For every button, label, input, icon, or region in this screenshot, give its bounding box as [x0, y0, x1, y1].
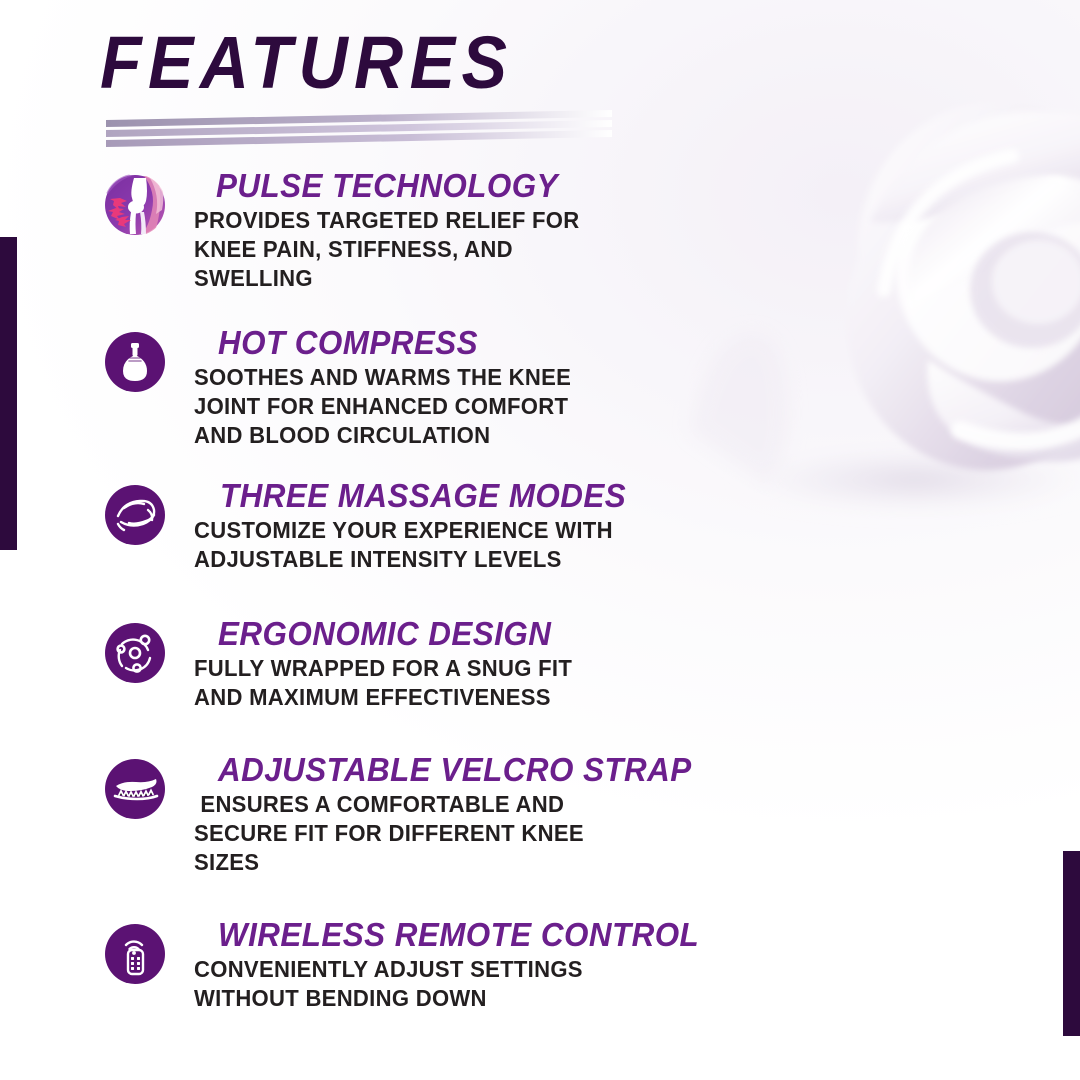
feature-item: HOT COMPRESS SOOTHES AND WARMS THE KNEE …	[104, 325, 724, 450]
feature-title: PULSE TECHNOLOGY	[216, 168, 699, 204]
title-underline-rules	[100, 108, 620, 154]
knee-joint-icon	[104, 174, 166, 236]
massage-hand-icon	[104, 484, 166, 546]
feature-item: WIRELESS REMOTE CONTROL CONVENIENTLY ADJ…	[104, 917, 724, 1013]
feature-title: HOT COMPRESS	[218, 325, 699, 361]
feature-description: ENSURES A COMFORTABLE AND SECURE FIT FOR…	[194, 790, 609, 877]
feature-description: FULLY WRAPPED FOR A SNUG FIT AND MAXIMUM…	[194, 654, 609, 712]
velcro-strap-icon	[104, 758, 166, 820]
feature-title: WIRELESS REMOTE CONTROL	[218, 917, 699, 953]
feature-item: ERGONOMIC DESIGN FULLY WRAPPED FOR A SNU…	[104, 616, 724, 712]
feature-description: CONVENIENTLY ADJUST SETTINGS WITHOUT BEN…	[194, 955, 597, 1013]
left-accent-bar	[0, 237, 17, 550]
feature-item: THREE MASSAGE MODES CUSTOMIZE YOUR EXPER…	[104, 478, 724, 574]
feature-description: CUSTOMIZE YOUR EXPERIENCE WITH ADJUSTABL…	[194, 516, 616, 574]
header: FEATURES	[100, 24, 660, 102]
ergonomic-nodes-icon	[104, 622, 166, 684]
remote-control-icon	[104, 923, 166, 985]
feature-title: ERGONOMIC DESIGN	[218, 616, 699, 652]
feature-title: THREE MASSAGE MODES	[220, 478, 699, 514]
page-title: FEATURES	[100, 24, 615, 102]
feature-description: SOOTHES AND WARMS THE KNEE JOINT FOR ENH…	[194, 363, 597, 450]
features-list: PULSE TECHNOLOGY PROVIDES TARGETED RELIE…	[104, 168, 724, 1021]
right-accent-bar	[1063, 851, 1080, 1036]
feature-description: PROVIDES TARGETED RELIEF FOR KNEE PAIN, …	[194, 206, 597, 293]
feature-title: ADJUSTABLE VELCRO STRAP	[218, 752, 699, 788]
hot-water-bottle-icon	[104, 331, 166, 393]
feature-item: ADJUSTABLE VELCRO STRAP ENSURES A COMFOR…	[104, 752, 724, 877]
features-poster: FEATURES	[0, 0, 1080, 1080]
feature-item: PULSE TECHNOLOGY PROVIDES TARGETED RELIE…	[104, 168, 724, 293]
